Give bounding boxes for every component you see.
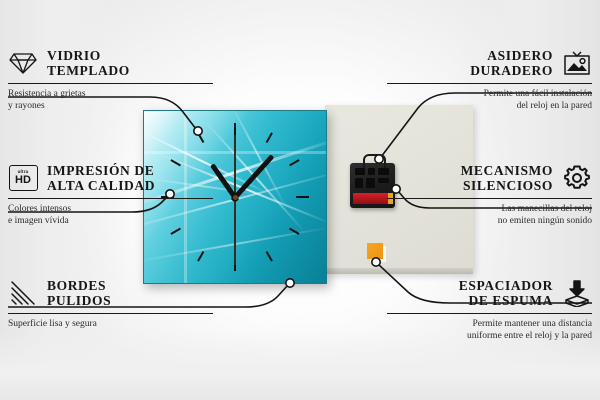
ultra-hd-icon-main-label: HD [15, 175, 31, 186]
polished-edge-icon [8, 278, 38, 308]
feature-description: Permite una fácil instalación del reloj … [387, 89, 592, 112]
feature-title: BORDES PULIDOS [47, 278, 111, 308]
feature-impresion-alta-calidad[interactable]: ultra HD IMPRESIÓN DE ALTA CALIDAD Color… [8, 163, 213, 227]
feature-description: Las manecillas del reloj no emiten ningú… [387, 204, 592, 227]
feature-description: Resistencia a grietas y rayones [8, 89, 213, 112]
feature-mecanismo-silencioso[interactable]: MECANISMO SILENCIOSO Las manecillas del … [387, 163, 592, 227]
infographic-canvas: VIDRIO TEMPLADO Resistencia a grietas y … [0, 0, 600, 400]
divider [387, 198, 592, 199]
feature-title: VIDRIO TEMPLADO [47, 48, 130, 78]
feature-espaciador-de-espuma[interactable]: ESPACIADOR DE ESPUMA Permite mantener un… [387, 278, 592, 342]
clock-back-panel-edge [325, 268, 473, 274]
divider [387, 313, 592, 314]
ultra-hd-icon: ultra HD [8, 163, 38, 193]
feature-title: MECANISMO SILENCIOSO [461, 163, 553, 193]
divider [8, 83, 213, 84]
feature-title: ASIDERO DURADERO [470, 48, 553, 78]
feature-description: Superficie lisa y segura [8, 319, 213, 331]
foam-spacer-icon [562, 278, 592, 308]
feature-title: IMPRESIÓN DE ALTA CALIDAD [47, 163, 155, 193]
feature-bordes-pulidos[interactable]: BORDES PULIDOS Superficie lisa y segura [8, 278, 213, 331]
diamond-icon [8, 48, 38, 78]
wall-hanger-loop [363, 154, 386, 168]
divider [8, 198, 213, 199]
feature-vidrio-templado[interactable]: VIDRIO TEMPLADO Resistencia a grietas y … [8, 48, 213, 112]
divider [387, 83, 592, 84]
feature-description: Permite mantener una distancia uniforme … [387, 319, 592, 342]
foam-spacer [367, 243, 383, 259]
feature-description: Colores intensos e imagen vívida [8, 204, 213, 227]
feature-title: ESPACIADOR DE ESPUMA [459, 278, 553, 308]
clock-center-pivot [233, 195, 238, 200]
feature-asidero-duradero[interactable]: ASIDERO DURADERO Permite una fácil insta… [387, 48, 592, 112]
picture-hanger-icon [562, 48, 592, 78]
gear-icon [562, 163, 592, 193]
divider [8, 313, 213, 314]
